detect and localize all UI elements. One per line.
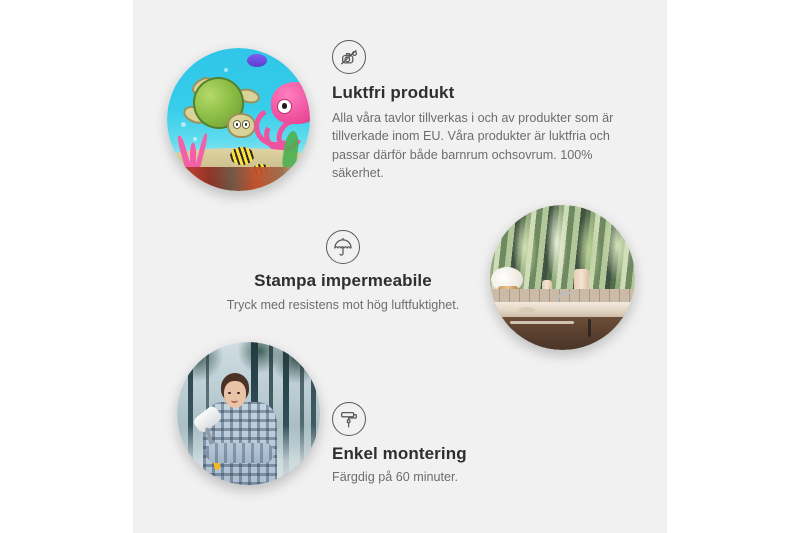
wooden-vanity xyxy=(502,317,635,350)
woman-folded-arms xyxy=(206,443,274,463)
blue-fish-icon xyxy=(247,54,267,67)
room-scene-strip xyxy=(167,167,310,191)
soap-dish xyxy=(519,307,535,314)
feature-body: Tryck med resistens mot hög luftfuktighe… xyxy=(212,296,474,314)
feature-easy: Enkel montering Färgdig på 60 minuter. xyxy=(332,402,562,486)
woman-smile xyxy=(231,398,238,403)
turtle-eye xyxy=(233,120,241,129)
photo-bathroom-botanical-wallpaper xyxy=(490,205,635,350)
paint-roller-icon xyxy=(332,402,366,436)
turtle-eye xyxy=(242,120,250,129)
turtle-head xyxy=(227,113,255,139)
photo-forest-inner xyxy=(177,342,320,485)
feature-title: Luktfri produkt xyxy=(332,83,624,103)
photo-woman-paint-roller-forest-wallpaper xyxy=(177,342,320,485)
octopus-eye xyxy=(277,99,291,114)
octopus-head xyxy=(271,82,310,124)
octopus-illustration xyxy=(256,82,310,148)
photo-underwater-cartoon-wallpaper xyxy=(167,48,310,191)
feature-title: Stampa impermeabile xyxy=(212,271,474,291)
feature-waterproof: Stampa impermeabile Tryck med resistens … xyxy=(212,230,474,314)
feature-title: Enkel montering xyxy=(332,444,562,464)
woman-face xyxy=(224,381,246,408)
no-smell-perfume-bottle-icon xyxy=(332,40,366,74)
feature-body: Alla våra tavlor tillverkas i och av pro… xyxy=(332,109,624,183)
photo-bathroom-inner xyxy=(490,205,635,350)
photo-underwater-inner xyxy=(167,48,310,191)
product-feature-banner: Luktfri produkt Alla våra tavlor tillver… xyxy=(0,0,800,533)
feature-odourless: Luktfri produkt Alla våra tavlor tillver… xyxy=(332,40,624,183)
coral-illustration xyxy=(178,131,215,171)
feature-body: Färgdig på 60 minuter. xyxy=(332,468,562,486)
woman-illustration xyxy=(203,373,277,485)
umbrella-icon xyxy=(326,230,360,264)
